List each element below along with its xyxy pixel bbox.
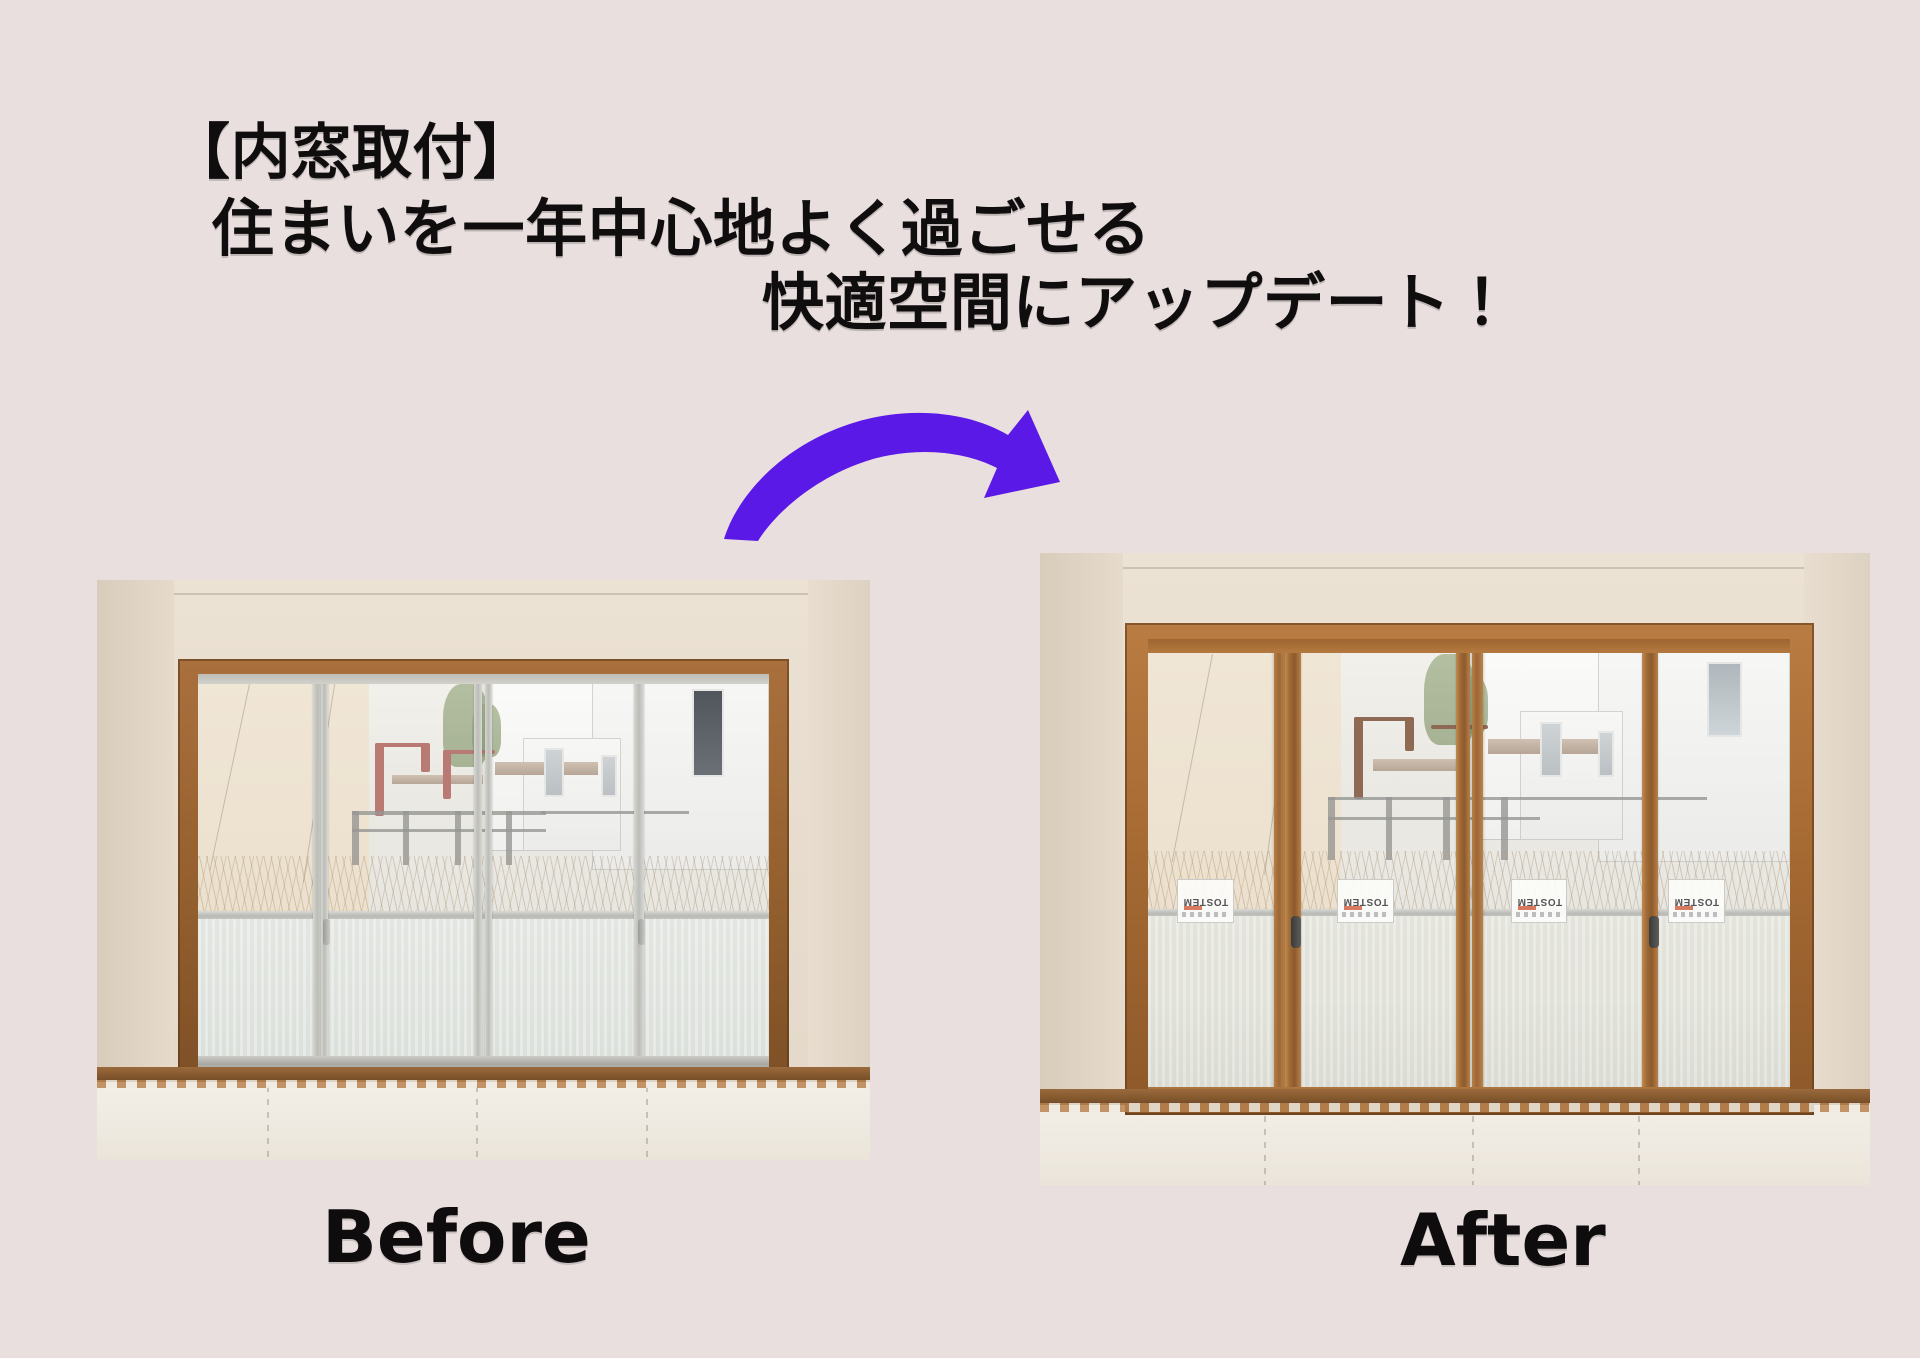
headline-line-3: 快適空間にアップデート！	[762, 252, 1513, 342]
after-sash-stile	[1642, 639, 1657, 1100]
before-photo	[97, 580, 870, 1160]
after-window-handle[interactable]	[1291, 916, 1301, 948]
tostem-sticker: TOSTEM	[1337, 879, 1394, 923]
after-sash-stile	[1274, 639, 1286, 1100]
before-caption: Before	[322, 1195, 591, 1279]
tostem-sticker-label: TOSTEM	[1517, 896, 1562, 906]
before-sash-stile	[474, 674, 481, 1069]
before-floor-mat-edge	[97, 1080, 870, 1088]
after-window-handle[interactable]	[1649, 916, 1659, 948]
after-sash-stile	[1285, 639, 1300, 1100]
tostem-sticker-label: TOSTEM	[1674, 896, 1719, 906]
before-frosted-glass	[198, 919, 770, 1069]
before-sash-stile	[485, 674, 492, 1069]
tostem-sticker: TOSTEM	[1668, 879, 1725, 923]
before-sash-stile	[321, 674, 328, 1069]
after-glass-field: TOSTEM TOSTEM TOSTEM TOSTEM	[1148, 639, 1790, 1100]
tostem-sticker: TOSTEM	[1511, 879, 1568, 923]
tostem-sticker: TOSTEM	[1177, 879, 1234, 923]
after-inner-window: TOSTEM TOSTEM TOSTEM TOSTEM	[1125, 623, 1814, 1116]
before-glass-field	[198, 674, 770, 1069]
before-window	[178, 659, 789, 1082]
before-window-handle[interactable]	[323, 919, 330, 945]
after-ceiling-line	[1040, 567, 1870, 569]
curved-right-arrow-icon	[716, 402, 1076, 542]
before-outdoor-view	[198, 674, 770, 919]
after-floor-mat-edge	[1040, 1103, 1870, 1112]
before-window-handle[interactable]	[638, 919, 645, 945]
after-sash-stile	[1472, 639, 1484, 1100]
after-photo: TOSTEM TOSTEM TOSTEM TOSTEM	[1040, 553, 1870, 1185]
tostem-sticker-label: TOSTEM	[1183, 896, 1228, 906]
after-caption: After	[1400, 1198, 1606, 1282]
before-window-header	[198, 674, 770, 683]
tostem-sticker-label: TOSTEM	[1343, 896, 1388, 906]
before-sash-stile	[634, 674, 643, 1069]
after-sash-stile	[1456, 639, 1470, 1100]
before-ceiling-line	[97, 593, 870, 595]
poster-canvas: 【内窓取付】 住まいを一年中心地よく過ごせる 快適空間にアップデート！	[0, 0, 1920, 1358]
after-window-header	[1148, 639, 1790, 653]
